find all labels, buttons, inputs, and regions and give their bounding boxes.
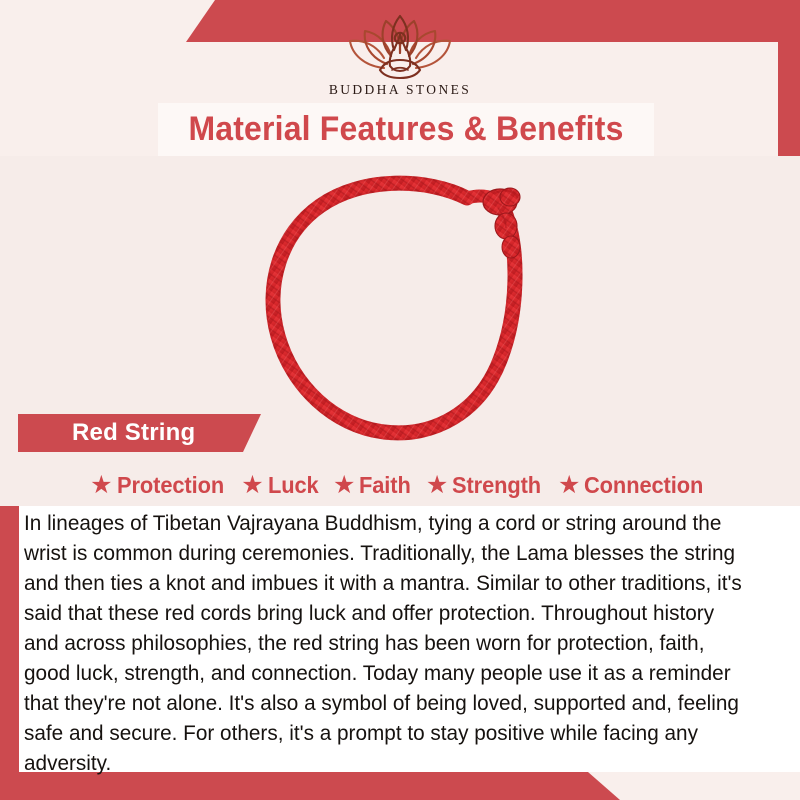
promo-poster: BUDDHA STONES Material Features & Benefi… xyxy=(0,0,800,800)
star-icon: ★ xyxy=(241,473,263,498)
star-icon: ★ xyxy=(90,473,112,498)
red-braided-string-bracelet-icon xyxy=(262,164,562,454)
lotus-meditation-icon xyxy=(344,8,456,80)
feature-item-strength: ★ Strength xyxy=(426,472,546,499)
page-title: Material Features & Benefits xyxy=(173,103,639,156)
star-icon: ★ xyxy=(558,473,580,498)
feature-label: Strength xyxy=(452,472,541,499)
feature-item-protection: ★ Protection xyxy=(90,472,229,499)
brand-name: BUDDHA STONES xyxy=(0,82,800,98)
star-icon: ★ xyxy=(333,473,355,498)
feature-item-connection: ★ Connection xyxy=(558,472,710,499)
feature-label: Faith xyxy=(359,472,411,499)
description-text: In lineages of Tibetan Vajrayana Buddhis… xyxy=(24,508,754,778)
star-icon: ★ xyxy=(426,473,448,498)
feature-item-faith: ★ Faith xyxy=(333,472,414,499)
feature-label: Protection xyxy=(117,472,224,499)
feature-label: Connection xyxy=(584,472,703,499)
feature-label: Luck xyxy=(268,472,319,499)
brand-logo: BUDDHA STONES xyxy=(0,8,800,98)
product-label: Red String xyxy=(72,414,195,452)
product-image-area xyxy=(0,156,800,506)
feature-list: ★ Protection ★ Luck ★ Faith ★ Strength ★… xyxy=(0,466,800,504)
feature-item-luck: ★ Luck xyxy=(241,472,321,499)
